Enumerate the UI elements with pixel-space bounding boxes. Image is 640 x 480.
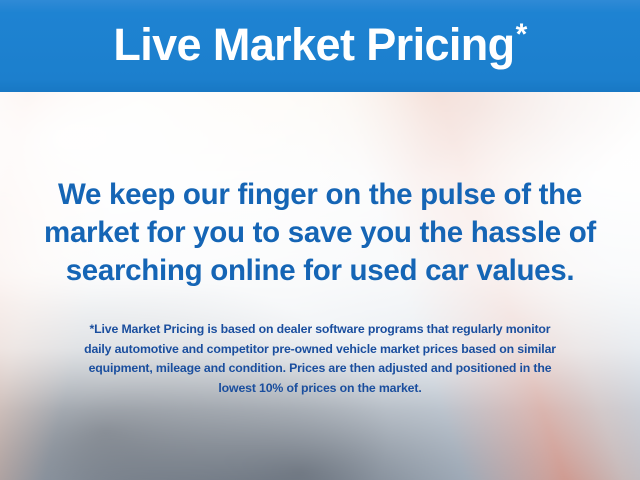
title-asterisk-marker: * (516, 18, 527, 51)
disclaimer-line-3: equipment, mileage and condition. Prices… (26, 359, 614, 379)
headline-line-3: searching online for used car values. (22, 252, 618, 290)
headline-line-1: We keep our finger on the pulse of the (22, 176, 618, 214)
headline-line-2: market for you to save you the hassle of (22, 214, 618, 252)
disclaimer-block: *Live Market Pricing is based on dealer … (0, 320, 640, 398)
page-title: Live Market Pricing* (113, 22, 526, 71)
live-market-pricing-slide: Live Market Pricing* We keep our finger … (0, 0, 640, 480)
disclaimer-line-2: daily automotive and competitor pre-owne… (26, 340, 614, 360)
disclaimer-line-4: lowest 10% of prices on the market. (26, 379, 614, 399)
page-title-text: Live Market Pricing (113, 19, 514, 70)
header-banner: Live Market Pricing* (0, 0, 640, 92)
headline-block: We keep our finger on the pulse of the m… (0, 176, 640, 290)
disclaimer-line-1: *Live Market Pricing is based on dealer … (26, 320, 614, 340)
